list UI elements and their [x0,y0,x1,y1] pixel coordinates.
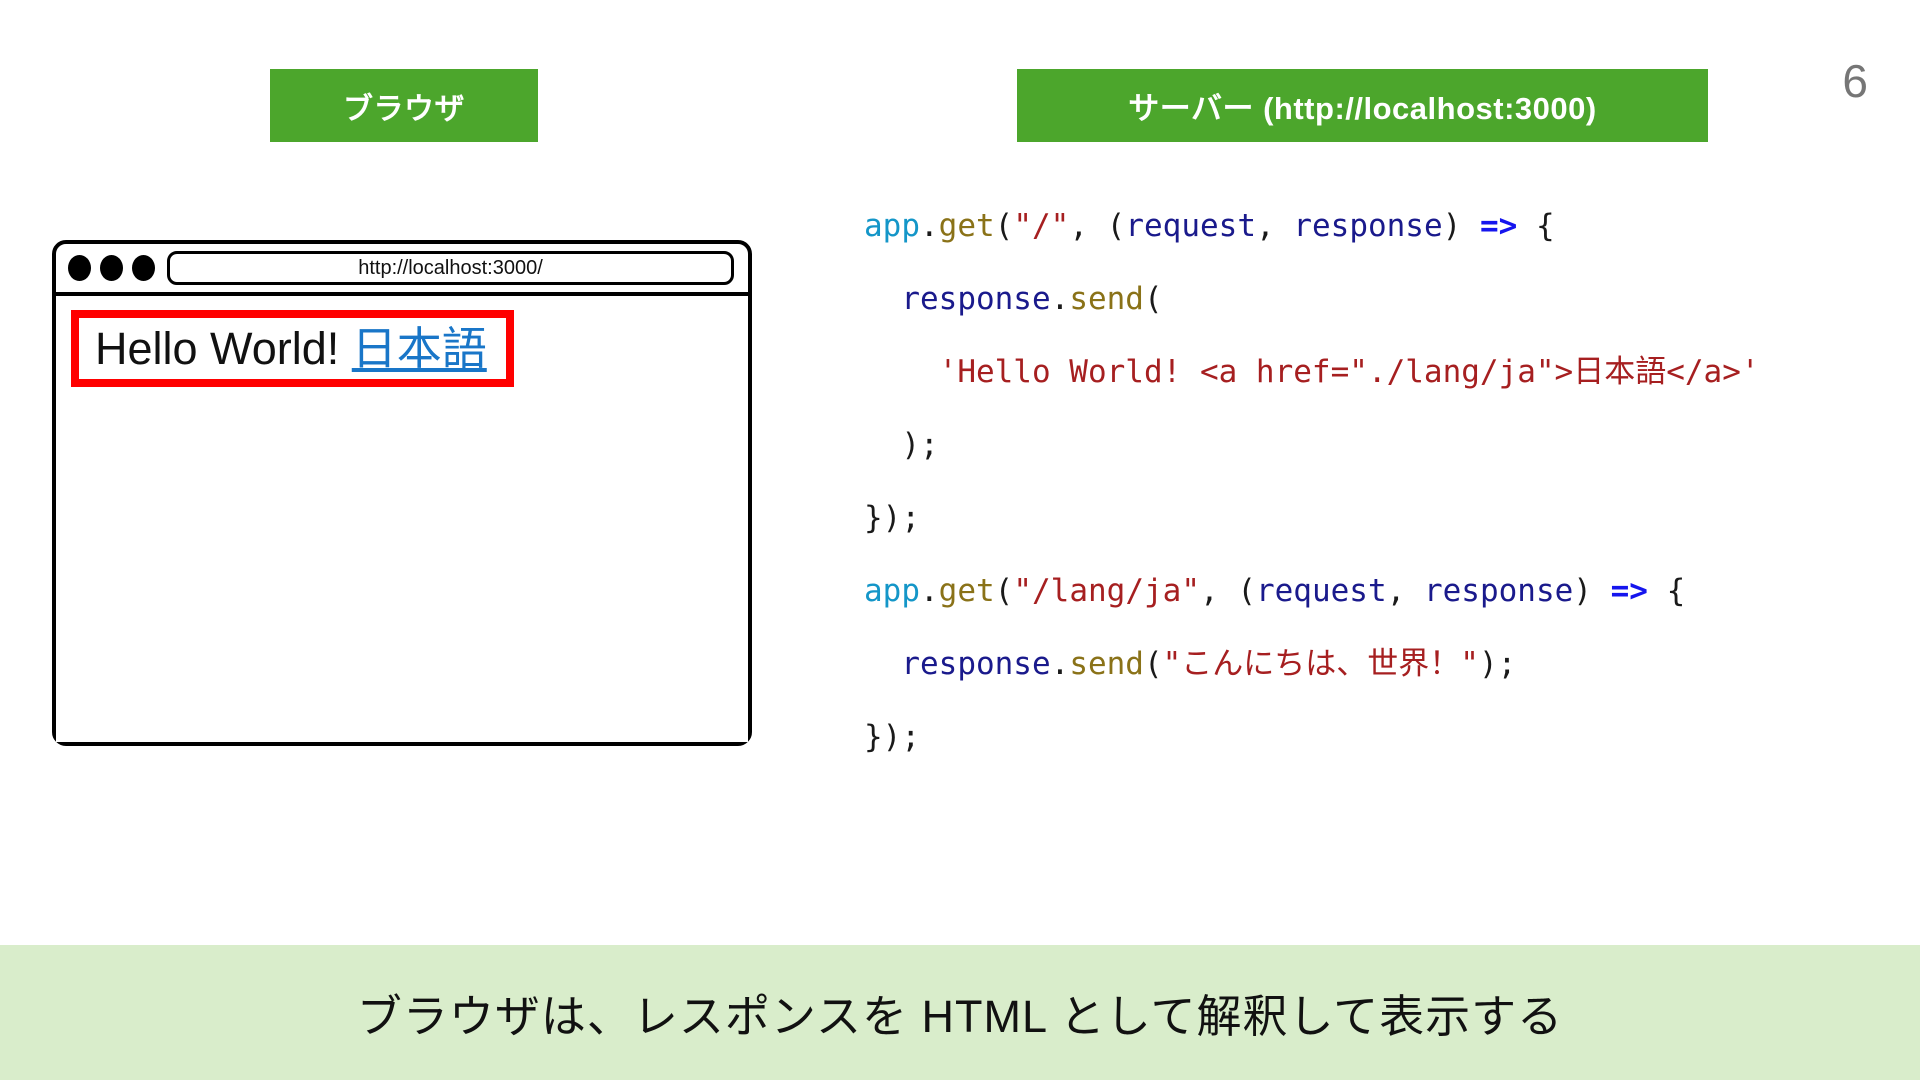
code-token-str: "こんにちは、世界！" [1163,646,1479,682]
code-token-punct: ); [1479,646,1516,682]
code-line: 'Hello World! <a href="./lang/ja">日本語</a… [864,336,1760,409]
code-indent [864,281,901,317]
code-token-punct: ) [1573,573,1592,609]
section-header-server: サーバー (http://localhost:3000) [1017,69,1708,142]
code-token-arrow: => [1611,573,1648,609]
code-line: }); [864,701,1760,774]
code-token-punct: ( [1144,281,1163,317]
code-token-fn: send [1069,646,1144,682]
code-token-punct: ( [995,573,1014,609]
code-token-punct [1461,208,1480,244]
window-close-dot-icon[interactable] [68,255,91,281]
code-token-param: response [901,646,1050,682]
code-token-punct: ( [1144,646,1163,682]
window-minimize-dot-icon[interactable] [100,255,123,281]
url-bar-text: http://localhost:3000/ [358,257,543,280]
code-token-param: response [1424,573,1573,609]
code-token-fn: get [939,573,995,609]
rendered-text-plain: Hello World! [95,323,352,374]
code-line: response.send("こんにちは、世界！"); [864,628,1760,701]
section-header-browser-label: ブラウザ [343,84,465,128]
code-token-punct: }); [864,500,920,536]
code-indent [864,646,901,682]
page-number: 6 [1842,58,1868,104]
code-token-punct: , [1387,573,1424,609]
code-token-param: response [901,281,1050,317]
code-token-obj: app [864,573,920,609]
rendered-output-highlight: Hello World! 日本語 [71,310,514,387]
code-token-punct: , [1256,208,1293,244]
code-token-punct: ( [1237,573,1256,609]
code-token-punct: ( [995,208,1014,244]
code-token-punct: ); [901,427,938,463]
code-token-punct [1592,573,1611,609]
code-token-punct: ( [1107,208,1126,244]
code-line: ); [864,409,1760,482]
code-line: app.get("/", (request, response) => { [864,190,1760,263]
window-maximize-dot-icon[interactable] [132,255,155,281]
code-token-punct: . [1051,281,1070,317]
code-indent [864,427,901,463]
rendered-page-text: Hello World! 日本語 [95,326,487,371]
code-token-str: "/" [1013,208,1069,244]
code-line: }); [864,482,1760,555]
code-token-punct: . [920,208,939,244]
code-token-str: "/lang/ja" [1013,573,1200,609]
browser-chrome: http://localhost:3000/ [56,244,748,296]
browser-window-mockup: http://localhost:3000/ Hello World! 日本語 [52,240,752,746]
code-token-param: request [1125,208,1256,244]
code-line: response.send( [864,263,1760,336]
browser-traffic-lights [68,255,155,281]
code-token-punct: , [1200,573,1237,609]
code-indent [864,354,939,390]
rendered-text-link[interactable]: 日本語 [352,323,487,374]
browser-viewport: Hello World! 日本語 [56,296,748,742]
code-token-fn: get [939,208,995,244]
caption-bar: ブラウザは、レスポンスを HTML として解釈して表示する [0,945,1920,1080]
section-header-browser: ブラウザ [270,69,538,142]
code-token-punct: . [1051,646,1070,682]
code-token-param: response [1293,208,1442,244]
code-token-arrow: => [1480,208,1517,244]
caption-text: ブラウザは、レスポンスを HTML として解釈して表示する [357,980,1563,1045]
url-bar[interactable]: http://localhost:3000/ [167,251,734,285]
code-token-obj: app [864,208,920,244]
code-token-punct: , [1069,208,1106,244]
code-token-punct: { [1517,208,1554,244]
code-token-punct: . [920,573,939,609]
code-token-punct: { [1648,573,1685,609]
server-code-block: app.get("/", (request, response) => { re… [864,190,1760,774]
section-header-server-label: サーバー (http://localhost:3000) [1128,83,1596,128]
code-token-punct: ) [1443,208,1462,244]
code-line: app.get("/lang/ja", (request, response) … [864,555,1760,628]
code-token-fn: send [1069,281,1144,317]
code-token-str: 'Hello World! <a href="./lang/ja">日本語</a… [939,354,1760,390]
code-token-param: request [1256,573,1387,609]
code-token-punct: }); [864,719,920,755]
